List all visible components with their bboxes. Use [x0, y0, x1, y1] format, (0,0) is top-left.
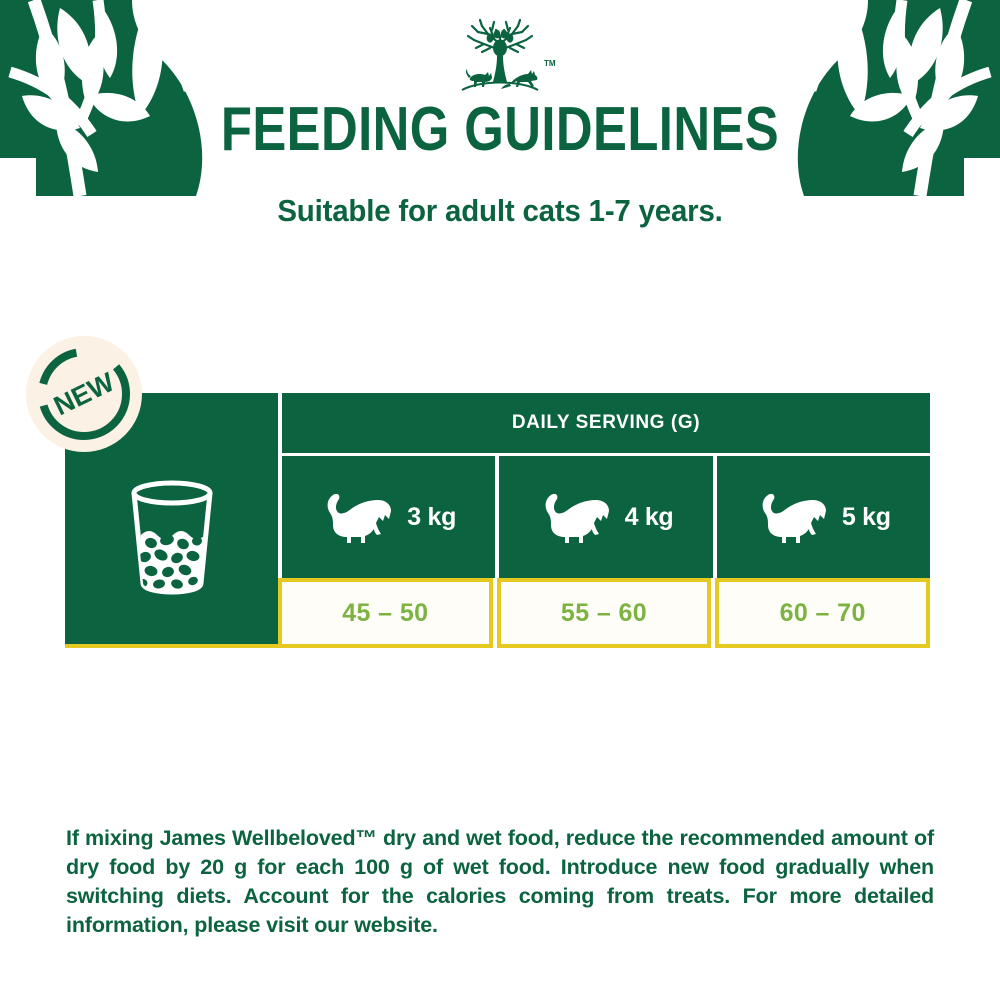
footer-note: If mixing James Wellbeloved™ dry and wet… — [66, 824, 934, 940]
weight-label-3kg: 3 kg — [407, 503, 456, 532]
cat-silhouette-icon — [539, 489, 615, 545]
serving-value-5kg: 60 – 70 — [715, 578, 930, 648]
cat-silhouette-icon — [321, 489, 397, 545]
cat-silhouette-icon — [756, 489, 832, 545]
feeding-table: DAILY SERVING (G) 3 kg — [65, 393, 930, 650]
daily-serving-header: DAILY SERVING (G) — [278, 393, 930, 453]
weight-label-5kg: 5 kg — [842, 503, 891, 532]
serving-value-3kg: 45 – 50 — [278, 578, 493, 648]
weight-row: 3 kg 4 kg 5 kg — [278, 456, 930, 578]
weight-cell-4kg: 4 kg — [495, 456, 712, 578]
page-subtitle: Suitable for adult cats 1-7 years. — [25, 192, 975, 230]
new-badge: NEW — [26, 336, 142, 452]
serving-columns: DAILY SERVING (G) 3 kg — [278, 393, 930, 650]
page-title: FEEDING GUIDELINES — [90, 98, 910, 162]
measuring-cup-with-kibble-icon — [117, 471, 227, 596]
trademark-mark: TM — [544, 59, 556, 68]
weight-label-4kg: 4 kg — [625, 503, 674, 532]
brand-logo: TM — [440, 14, 560, 98]
weight-cell-3kg: 3 kg — [278, 456, 495, 578]
weight-cell-5kg: 5 kg — [713, 456, 930, 578]
serving-value-4kg: 55 – 60 — [497, 578, 712, 648]
serving-row: 45 – 50 55 – 60 60 – 70 — [278, 578, 930, 648]
